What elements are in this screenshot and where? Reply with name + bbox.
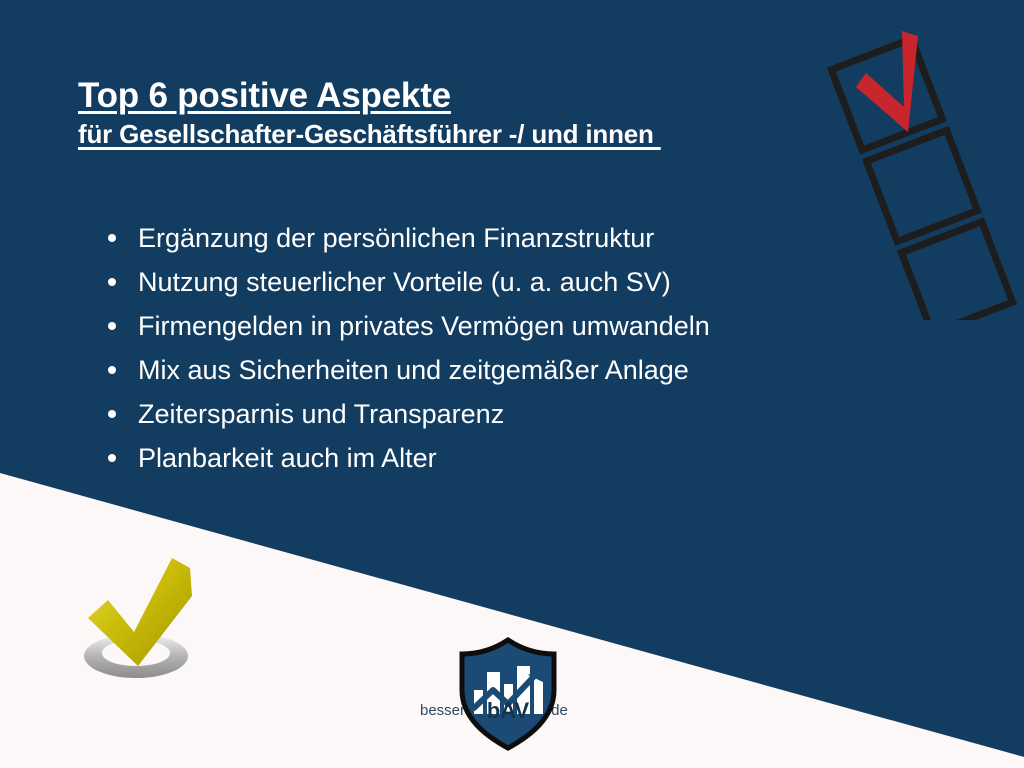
list-item-label: Zeitersparnis und Transparenz	[138, 399, 504, 429]
list-item-label: Planbarkeit auch im Alter	[138, 443, 437, 473]
bullet-dot-icon	[108, 366, 116, 374]
list-item: Zeitersparnis und Transparenz	[100, 392, 710, 436]
gold-checkmark-icon	[58, 548, 213, 693]
slide-canvas: Top 6 positive Aspekte für Gesellschafte…	[0, 0, 1024, 768]
list-item: Firmengelden in privates Vermögen umwand…	[100, 304, 710, 348]
list-item-label: Ergänzung der persönlichen Finanzstruktu…	[138, 223, 654, 253]
page-title: Top 6 positive Aspekte für Gesellschafte…	[78, 76, 661, 149]
list-item-label: Firmengelden in privates Vermögen umwand…	[138, 311, 710, 341]
bullet-dot-icon	[108, 454, 116, 462]
list-item: Planbarkeit auch im Alter	[100, 436, 710, 480]
title-line-primary: Top 6 positive Aspekte	[78, 76, 661, 116]
logo-shield-shape: bAV	[462, 640, 554, 748]
checkbox-checked-icon	[805, 10, 1024, 320]
bullet-dot-icon	[108, 322, 116, 330]
list-item: Ergänzung der persönlichen Finanzstruktu…	[100, 216, 710, 260]
benefits-list: Ergänzung der persönlichen Finanzstruktu…	[100, 216, 710, 480]
shield-chart-logo-icon[interactable]: besser- .de bAV	[408, 634, 608, 754]
list-item: Nutzung steuerlicher Vorteile (u. a. auc…	[100, 260, 710, 304]
bullet-dot-icon	[108, 234, 116, 242]
bullet-dot-icon	[108, 278, 116, 286]
list-item-label: Nutzung steuerlicher Vorteile (u. a. auc…	[138, 267, 671, 297]
list-item: Mix aus Sicherheiten und zeitgemäßer Anl…	[100, 348, 710, 392]
list-item-label: Mix aus Sicherheiten und zeitgemäßer Anl…	[138, 355, 689, 385]
bullet-dot-icon	[108, 410, 116, 418]
title-line-secondary: für Gesellschafter-Geschäftsführer -/ un…	[78, 120, 661, 149]
logo-mark-text: bAV	[487, 698, 530, 723]
